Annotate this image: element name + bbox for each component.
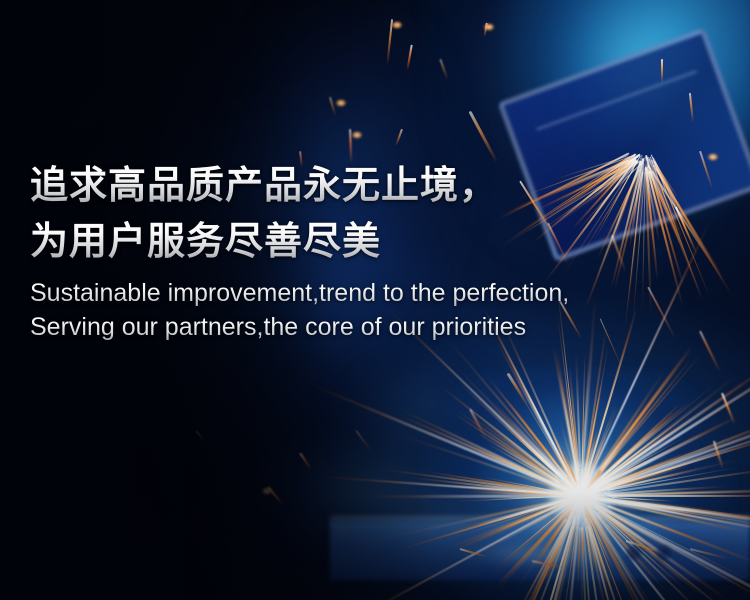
spark-streak	[585, 502, 729, 600]
spark-streak	[597, 512, 712, 600]
spark-streak	[587, 500, 730, 600]
steel-workpiece	[330, 522, 750, 580]
spark-streak	[594, 511, 660, 584]
spark-streak	[364, 495, 573, 498]
workpiece-bolt-hole	[626, 545, 642, 561]
spark-streak	[520, 476, 569, 493]
spark-streak	[439, 59, 449, 81]
spark-streak	[592, 493, 667, 497]
spark-streak	[603, 474, 639, 489]
spark-streak	[584, 502, 667, 600]
spark-streak	[299, 452, 312, 470]
spark-streak	[594, 371, 666, 477]
spark-streak	[493, 501, 575, 574]
headline-en-line-1: Sustainable improvement,trend to the per…	[30, 276, 720, 310]
spark-streak	[598, 506, 685, 558]
spark-streak	[593, 460, 646, 490]
spark-streak	[593, 398, 711, 487]
spark-streak	[595, 506, 644, 545]
spark-streak	[535, 525, 574, 600]
spark-streak	[542, 503, 575, 539]
spark-streak	[600, 513, 684, 589]
spark-streak	[508, 521, 570, 600]
spark-streak	[607, 498, 750, 522]
spark-streak	[507, 504, 578, 600]
welding-arc-flash	[548, 462, 614, 528]
spark-streak	[594, 503, 627, 524]
spark-streak	[451, 497, 573, 534]
spark-streak	[267, 486, 284, 506]
workpiece-top-edge	[330, 516, 750, 526]
spark-streak	[585, 350, 705, 491]
spark-streak	[488, 377, 574, 487]
spark-streak	[608, 467, 739, 492]
spark-streak	[588, 411, 750, 494]
spark-glow	[484, 24, 494, 30]
spark-streak	[600, 401, 691, 480]
headline-cn-line-1: 追求高品质产品永无止境，	[30, 158, 720, 214]
spark-streak	[497, 506, 572, 587]
spark-streak	[456, 367, 569, 483]
spark-streak	[690, 548, 729, 560]
spark-streak	[591, 510, 616, 544]
spark-streak	[593, 496, 730, 514]
spark-streak	[524, 445, 563, 481]
spark-streak	[456, 409, 571, 490]
spark-streak	[528, 437, 563, 476]
spark-streak	[577, 527, 581, 587]
spark-streak	[581, 354, 585, 474]
spark-streak	[584, 517, 599, 574]
spark-streak	[400, 409, 569, 491]
spark-streak	[581, 525, 590, 600]
spark-streak	[585, 512, 628, 600]
spark-streak	[589, 496, 750, 538]
spark-streak	[602, 463, 692, 491]
spark-streak	[661, 59, 663, 83]
spark-streak	[721, 393, 736, 425]
spark-streak	[482, 504, 566, 553]
spark-streak	[469, 489, 568, 497]
spark-streak	[490, 496, 550, 499]
spark-streak	[589, 496, 750, 530]
spark-streak	[599, 444, 624, 474]
spark-streak	[612, 497, 676, 502]
spark-streak	[599, 346, 693, 471]
spark-streak	[558, 369, 579, 480]
spark-streak	[533, 508, 578, 600]
spark-streak	[585, 526, 595, 575]
spark-streak	[589, 508, 664, 600]
spark-streak	[373, 499, 563, 541]
workpiece-hotspot	[430, 540, 660, 574]
spark-streak	[584, 503, 615, 570]
spark-streak	[502, 364, 573, 482]
spark-streak	[583, 506, 611, 592]
spark-streak	[608, 505, 635, 517]
spark-streak	[595, 503, 648, 535]
spark-streak	[583, 506, 594, 538]
spark-streak	[552, 446, 575, 485]
spark-streak	[575, 353, 581, 467]
spark-streak	[397, 413, 566, 490]
spark-streak	[552, 345, 579, 481]
spark-streak	[588, 408, 750, 495]
spark-streak	[586, 436, 686, 493]
spark-streak	[469, 111, 498, 163]
spark-streak	[590, 518, 614, 572]
spark-streak	[587, 499, 750, 600]
spark-streak	[400, 499, 567, 550]
spark-streak	[602, 506, 750, 586]
spark-streak	[595, 499, 646, 513]
spark-streak	[601, 425, 672, 480]
spark-streak	[584, 463, 606, 491]
spark-glow	[352, 132, 362, 138]
spark-streak	[533, 519, 566, 567]
spark-streak	[396, 433, 573, 494]
headline-en-line-2: Serving our partners,the core of our pri…	[30, 310, 720, 344]
spark-streak	[463, 442, 568, 491]
spark-streak	[482, 476, 565, 493]
spark-streak	[559, 504, 581, 600]
blue-smoke	[240, 400, 560, 600]
spark-streak	[544, 521, 576, 600]
spark-streak	[607, 468, 701, 491]
spark-streak	[504, 513, 576, 600]
spark-streak	[609, 495, 750, 497]
spark-streak	[428, 471, 558, 493]
headline-cn-line-2: 为用户服务尽善尽美	[30, 214, 720, 270]
spark-streak	[595, 505, 663, 553]
spark-streak	[588, 415, 739, 493]
spark-streak	[500, 443, 560, 482]
spark-streak	[586, 408, 678, 491]
spark-streak	[454, 412, 559, 482]
spark-streak	[477, 432, 561, 484]
spark-streak	[587, 500, 662, 557]
spark-streak	[586, 507, 645, 600]
spark-glow	[336, 100, 346, 106]
spark-streak	[606, 467, 649, 487]
spark-streak	[587, 344, 750, 493]
helmet-highlight	[530, 0, 730, 180]
spark-streak	[497, 504, 574, 592]
spark-streak	[538, 506, 574, 556]
spark-streak	[582, 352, 591, 466]
spark-streak	[592, 497, 699, 516]
spark-streak	[445, 336, 563, 475]
spark-streak	[509, 503, 578, 600]
spark-streak	[591, 415, 689, 489]
spark-streak	[522, 503, 568, 531]
spark-glow	[392, 22, 402, 28]
spark-streak	[596, 372, 740, 484]
spark-streak	[595, 493, 662, 496]
spark-streak	[588, 498, 713, 546]
spark-streak	[582, 344, 609, 485]
spark-streak	[489, 404, 576, 491]
spark-streak	[559, 516, 578, 600]
spark-streak	[582, 508, 610, 600]
spark-streak	[592, 469, 626, 490]
workpiece-bolt-hole	[656, 545, 672, 561]
spark-streak	[564, 377, 581, 489]
spark-streak	[439, 500, 568, 552]
spark-streak	[607, 489, 750, 496]
spark-streak	[603, 466, 750, 494]
spark-streak	[544, 521, 571, 583]
spark-streak	[587, 508, 655, 600]
spark-streak	[562, 449, 579, 488]
spark-streak	[594, 435, 750, 493]
spark-streak	[581, 528, 585, 566]
spark-streak	[584, 450, 620, 492]
spark-streak	[603, 458, 746, 491]
spark-streak	[588, 433, 701, 492]
spark-streak	[587, 405, 618, 480]
spark-streak	[340, 499, 574, 600]
spark-streak	[496, 341, 578, 490]
spark-glow	[262, 488, 272, 494]
spark-streak	[544, 504, 573, 534]
spark-streak	[549, 520, 576, 600]
spark-streak	[555, 345, 579, 480]
spark-streak	[585, 393, 651, 489]
spark-streak	[546, 437, 579, 491]
welding-hero-banner: 追求高品质产品永无止境， 为用户服务尽善尽美 Sustainable impro…	[0, 0, 750, 600]
spark-streak	[520, 503, 579, 600]
spark-streak	[532, 560, 566, 569]
spark-streak	[411, 477, 552, 494]
spark-streak	[305, 381, 574, 495]
spark-streak	[545, 521, 572, 581]
spark-streak	[543, 493, 569, 496]
spark-streak	[603, 416, 750, 489]
spark-streak	[586, 516, 612, 600]
spark-streak	[580, 504, 583, 600]
spark-streak	[566, 519, 577, 559]
spark-streak	[458, 382, 576, 491]
spark-streak	[589, 448, 699, 494]
spark-streak	[608, 505, 750, 566]
spark-streak	[587, 365, 750, 492]
spark-streak	[585, 518, 608, 600]
spark-streak	[493, 401, 577, 491]
spark-streak	[598, 515, 668, 593]
spark-streak	[713, 441, 724, 470]
spark-streak	[610, 500, 750, 529]
spark-streak	[626, 540, 668, 555]
spark-streak	[544, 525, 576, 600]
spark-streak	[503, 424, 560, 477]
spark-streak	[458, 498, 566, 522]
spark-streak	[582, 522, 598, 600]
spark-streak	[380, 468, 571, 495]
spark-streak	[583, 380, 604, 479]
spark-streak	[689, 93, 694, 123]
spark-streak	[585, 405, 620, 485]
spark-streak	[591, 416, 695, 489]
spark-streak	[460, 548, 488, 558]
spark-streak	[453, 499, 572, 551]
spark-streak	[195, 430, 206, 442]
welding-arc-glow	[420, 370, 750, 600]
spark-streak	[548, 423, 578, 486]
spark-streak	[464, 410, 573, 490]
spark-streak	[587, 506, 619, 560]
spark-streak	[586, 435, 595, 470]
spark-streak	[504, 396, 568, 478]
spark-streak	[524, 460, 560, 483]
spark-streak	[477, 499, 571, 540]
spark-streak	[469, 409, 487, 440]
spark-streak	[463, 499, 570, 535]
spark-streak	[558, 415, 575, 474]
spark-streak	[586, 511, 646, 600]
spark-streak	[599, 380, 719, 480]
spark-streak	[493, 513, 565, 589]
spark-streak	[467, 446, 573, 494]
spark-streak	[602, 498, 713, 518]
spark-streak	[457, 490, 572, 496]
spark-streak	[355, 430, 371, 452]
spark-streak	[590, 486, 726, 496]
spark-streak	[329, 97, 336, 117]
spark-streak	[540, 494, 572, 497]
headline-block: 追求高品质产品永无止境， 为用户服务尽善尽美 Sustainable impro…	[30, 158, 720, 344]
spark-streak	[593, 510, 649, 574]
spark-streak	[407, 45, 413, 71]
spark-streak	[600, 358, 692, 472]
spark-streak	[571, 514, 580, 596]
spark-streak	[479, 418, 576, 493]
spark-streak	[494, 505, 570, 569]
spark-streak	[538, 502, 579, 590]
spark-streak	[506, 503, 580, 600]
spark-streak	[452, 484, 565, 495]
spark-streak	[455, 495, 574, 502]
spark-streak	[487, 442, 569, 490]
spark-streak	[583, 505, 604, 574]
spark-streak	[484, 23, 488, 37]
spark-streak	[495, 505, 556, 531]
spark-streak	[590, 472, 648, 494]
spark-streak	[546, 465, 569, 485]
spark-streak	[588, 525, 621, 600]
headline-en-group: Sustainable improvement,trend to the per…	[30, 276, 720, 344]
spark-streak	[586, 432, 608, 482]
spark-streak	[586, 403, 682, 492]
spark-streak	[583, 427, 598, 483]
spark-streak	[607, 494, 683, 496]
spark-streak	[471, 444, 563, 488]
spark-streak	[507, 373, 529, 407]
spark-streak	[600, 499, 747, 533]
spark-streak	[514, 510, 571, 592]
spark-streak	[589, 431, 628, 484]
spark-streak	[525, 516, 576, 600]
spark-streak	[586, 499, 704, 597]
spark-streak	[319, 476, 574, 496]
spark-streak	[440, 385, 559, 478]
spark-streak	[395, 129, 403, 147]
spark-streak	[598, 509, 744, 600]
spark-streak	[592, 481, 625, 494]
spark-streak	[386, 19, 393, 65]
spark-streak	[608, 453, 683, 485]
spark-streak	[533, 391, 579, 489]
blue-smoke-upper	[300, 330, 520, 490]
spark-streak	[588, 499, 750, 600]
spark-streak	[568, 365, 580, 471]
spark-streak	[584, 328, 607, 471]
